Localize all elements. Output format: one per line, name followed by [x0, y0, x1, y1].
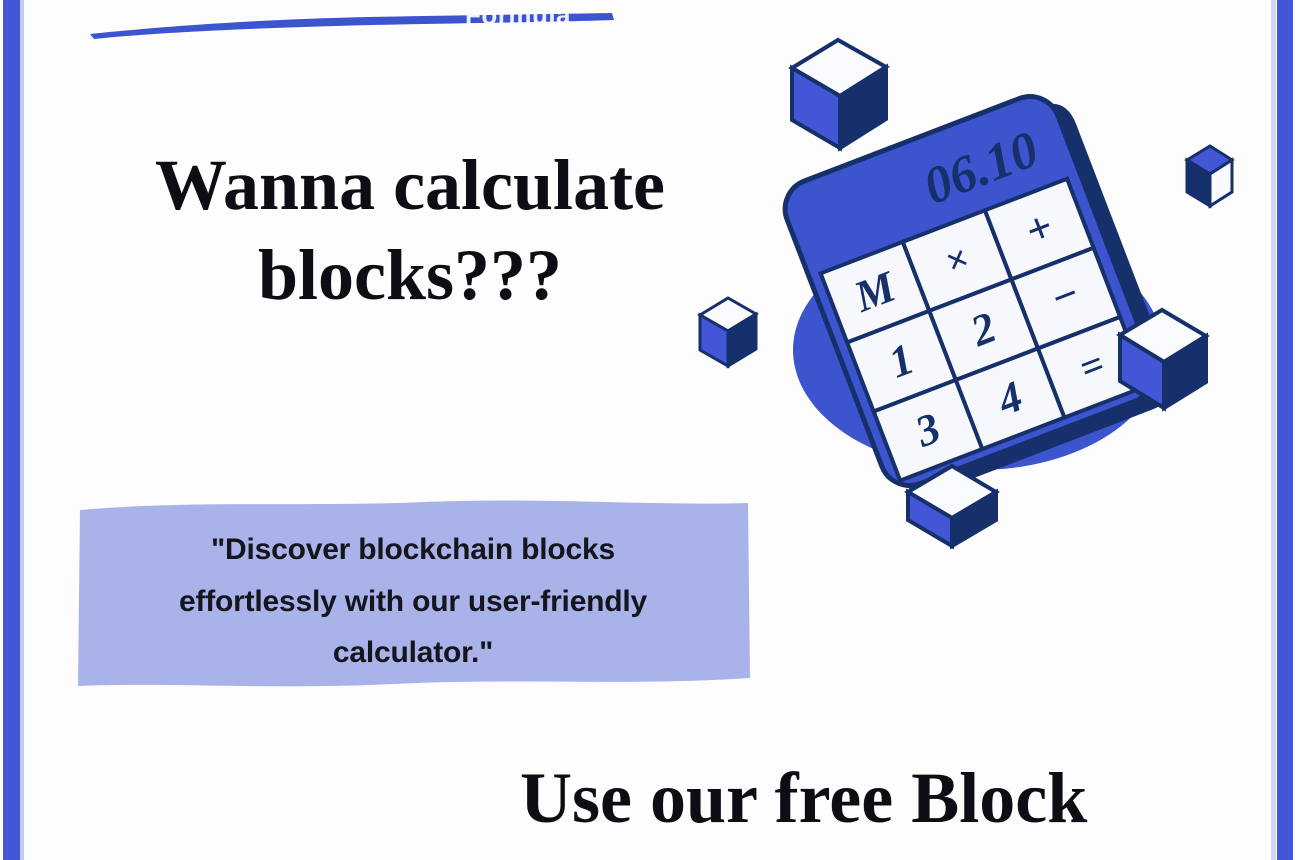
brush-stroke-shape: [88, 6, 616, 40]
quote-line-1: "Discover blockchain blocks: [100, 524, 726, 576]
poster-canvas: Formula Wanna calculate blocks??? "Disco…: [0, 0, 1296, 860]
quote-line-3: calculator.": [100, 627, 726, 679]
frame-accent-left: [20, 0, 24, 860]
page-title: Wanna calculate blocks???: [60, 140, 760, 320]
quote-text: "Discover blockchain blocks effortlessly…: [100, 524, 726, 679]
quote-line-2: effortlessly with our user-friendly: [100, 576, 726, 628]
page-title-line-2: blocks???: [60, 230, 760, 320]
calculator-illustration-svg: 06.10 M × + 1 2 −: [680, 20, 1280, 560]
quote-highlight-box: "Discover blockchain blocks effortlessly…: [74, 498, 752, 690]
block-cube-right-small-icon: [1187, 146, 1232, 206]
page-title-line-1: Wanna calculate: [60, 140, 760, 230]
calculator-illustration: 06.10 M × + 1 2 −: [680, 20, 1280, 560]
block-cube-left-small-icon: [700, 298, 756, 366]
footer-headline: Use our free Block: [520, 762, 1260, 834]
frame-border-left: [3, 0, 20, 860]
block-cube-top-left-icon: [792, 40, 886, 148]
brush-stroke-banner: Formula: [88, 6, 616, 40]
